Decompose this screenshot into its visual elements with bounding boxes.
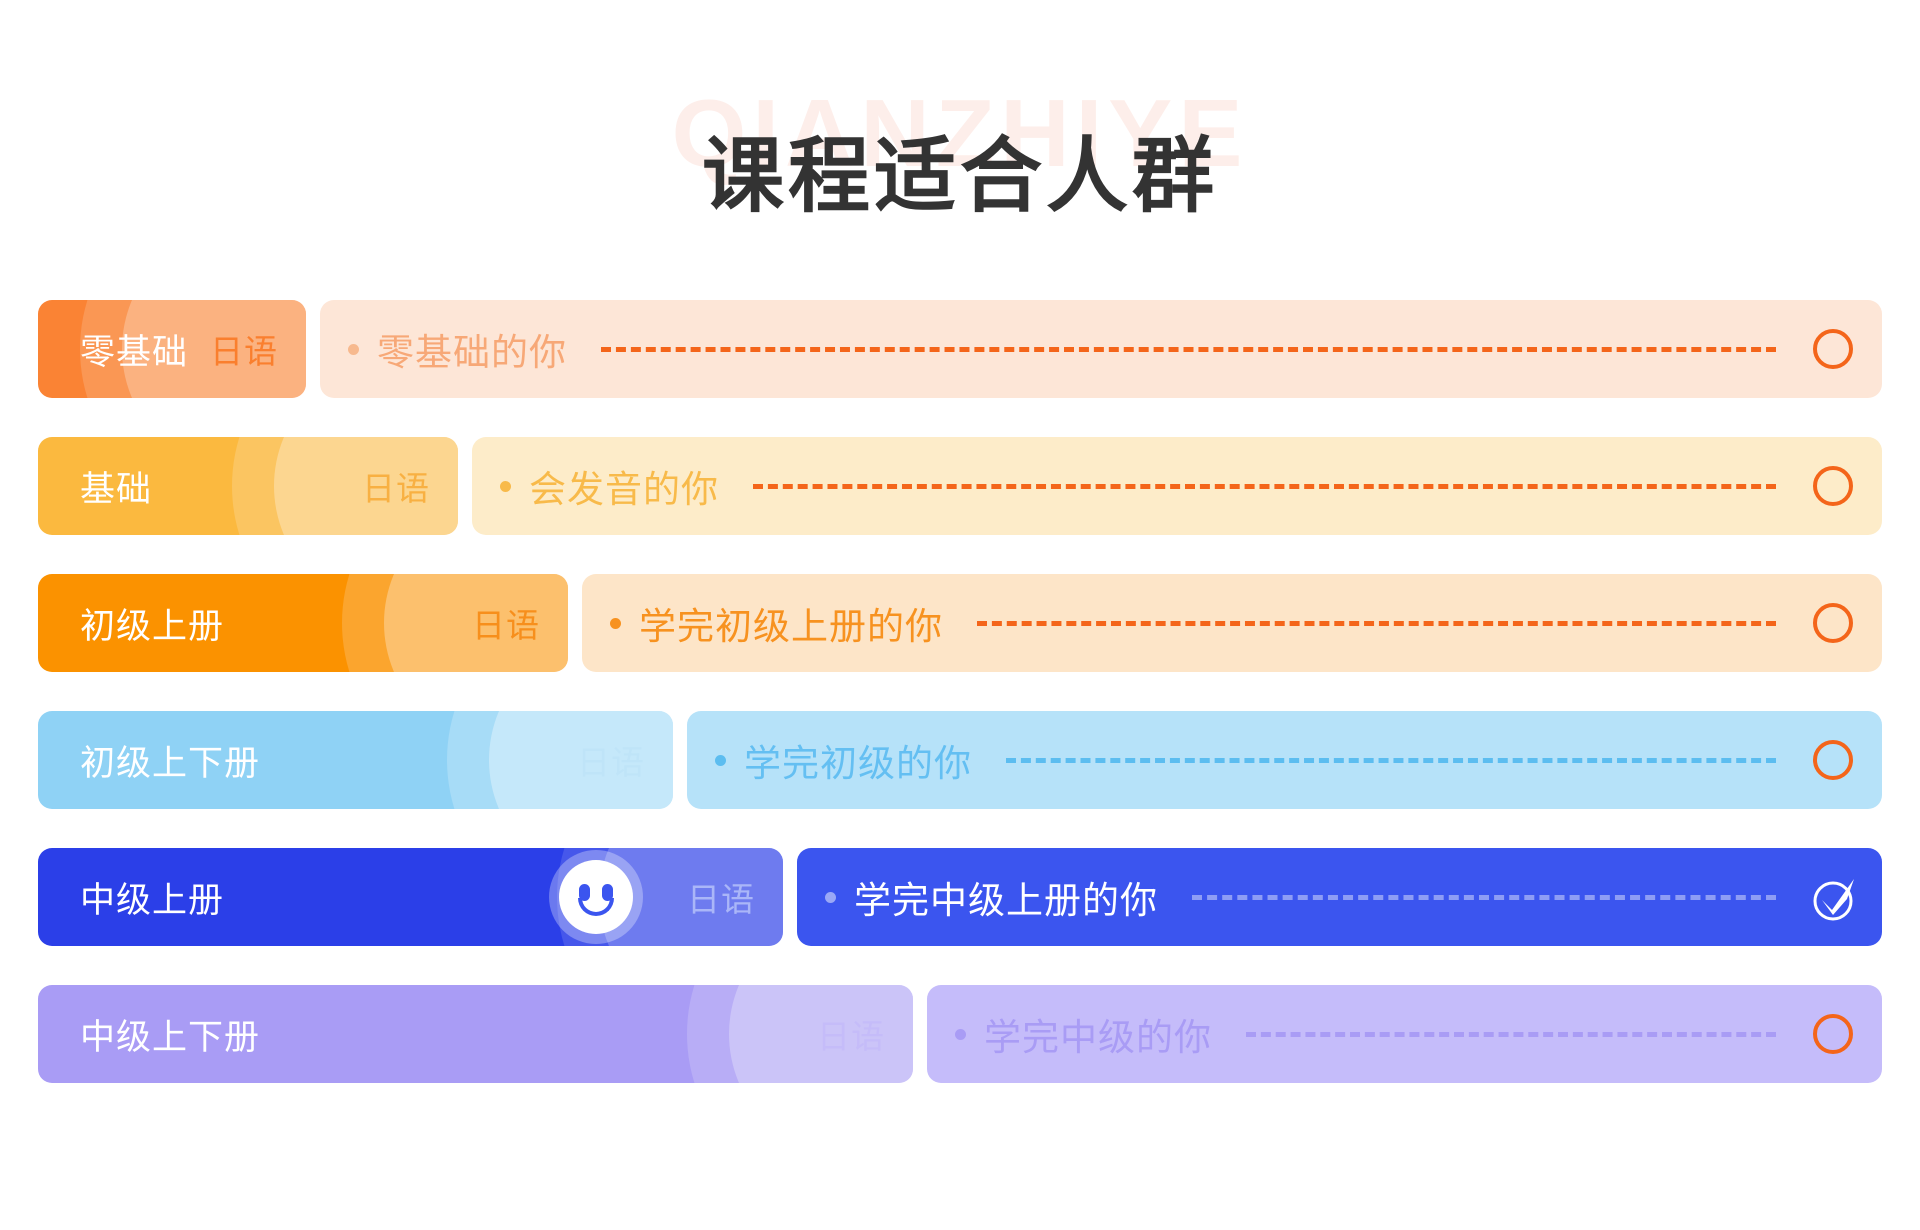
bullet-dot-icon [715,755,726,766]
circle-outline-shape [1813,329,1853,369]
level-bar[interactable]: 初级上下册日语 [38,711,673,809]
level-rows-list: 零基础日语零基础的你基础日语会发音的你初级上册日语学完初级上册的你初级上下册日语… [0,300,1920,1083]
circle-outline-icon[interactable] [1810,600,1856,646]
page-header: QIANZHIYE 课程适合人群 [0,0,1920,300]
bullet-dot-icon [610,618,621,629]
level-bar[interactable]: 中级上下册日语 [38,985,913,1083]
dashed-connector-line [1246,1032,1776,1037]
check-circle-icon[interactable] [1810,872,1856,918]
level-row[interactable]: 初级上下册日语学完初级的你 [0,711,1920,809]
level-row[interactable]: 基础日语会发音的你 [0,437,1920,535]
audience-description-text: 学完初级的你 [744,733,972,787]
level-row[interactable]: 中级上下册日语学完中级的你 [0,985,1920,1083]
level-bar[interactable]: 基础日语 [38,437,458,535]
level-row[interactable]: 初级上册日语学完初级上册的你 [0,574,1920,672]
page-title: 课程适合人群 [0,132,1920,222]
level-bar[interactable]: 初级上册日语 [38,574,568,672]
level-label: 基础 [38,461,152,512]
smiley-face-icon [559,860,633,934]
audience-description-text: 零基础的你 [377,322,567,376]
audience-description-text: 会发音的你 [529,459,719,513]
circle-outline-shape [1813,603,1853,643]
dashed-connector-line [1192,895,1776,900]
bullet-dot-icon [955,1029,966,1040]
language-badge: 日语 [210,325,278,373]
circle-outline-icon[interactable] [1810,1011,1856,1057]
audience-description-panel[interactable]: 学完初级的你 [687,711,1882,809]
smiley-mouth [578,898,614,916]
audience-description-text: 学完初级上册的你 [639,596,943,650]
level-row[interactable]: 零基础日语零基础的你 [0,300,1920,398]
dashed-connector-line [977,621,1776,626]
audience-description-panel[interactable]: 零基础的你 [320,300,1882,398]
audience-description-panel[interactable]: 会发音的你 [472,437,1882,535]
course-audience-page: QIANZHIYE 课程适合人群 零基础日语零基础的你基础日语会发音的你初级上册… [0,0,1920,1230]
circle-outline-shape [1813,1014,1853,1054]
audience-description-panel[interactable]: 学完中级的你 [927,985,1882,1083]
audience-description-panel[interactable]: 学完中级上册的你 [797,848,1882,946]
audience-description-panel[interactable]: 学完初级上册的你 [582,574,1882,672]
level-label: 中级上下册 [38,1009,260,1060]
level-bar[interactable]: 零基础日语 [38,300,306,398]
circle-outline-icon[interactable] [1810,463,1856,509]
circle-outline-icon[interactable] [1810,737,1856,783]
level-row[interactable]: 中级上册日语学完中级上册的你 [0,848,1920,946]
language-badge: 日语 [687,873,755,921]
level-bar[interactable]: 中级上册日语 [38,848,783,946]
circle-outline-shape [1813,740,1853,780]
level-label: 零基础 [38,324,188,375]
bullet-dot-icon [825,892,836,903]
audience-description-text: 学完中级的你 [984,1007,1212,1061]
audience-description-text: 学完中级上册的你 [854,870,1158,924]
dashed-connector-line [753,484,1776,489]
bullet-dot-icon [500,481,511,492]
level-label: 初级上下册 [38,735,260,786]
dashed-connector-line [1006,758,1776,763]
language-badge: 日语 [577,736,645,784]
language-badge: 日语 [362,462,430,510]
circle-outline-icon[interactable] [1810,326,1856,372]
bullet-dot-icon [348,344,359,355]
language-badge: 日语 [472,599,540,647]
level-label: 中级上册 [38,872,224,923]
level-label: 初级上册 [38,598,224,649]
dashed-connector-line [601,347,1776,352]
language-badge: 日语 [817,1010,885,1058]
circle-outline-shape [1813,466,1853,506]
